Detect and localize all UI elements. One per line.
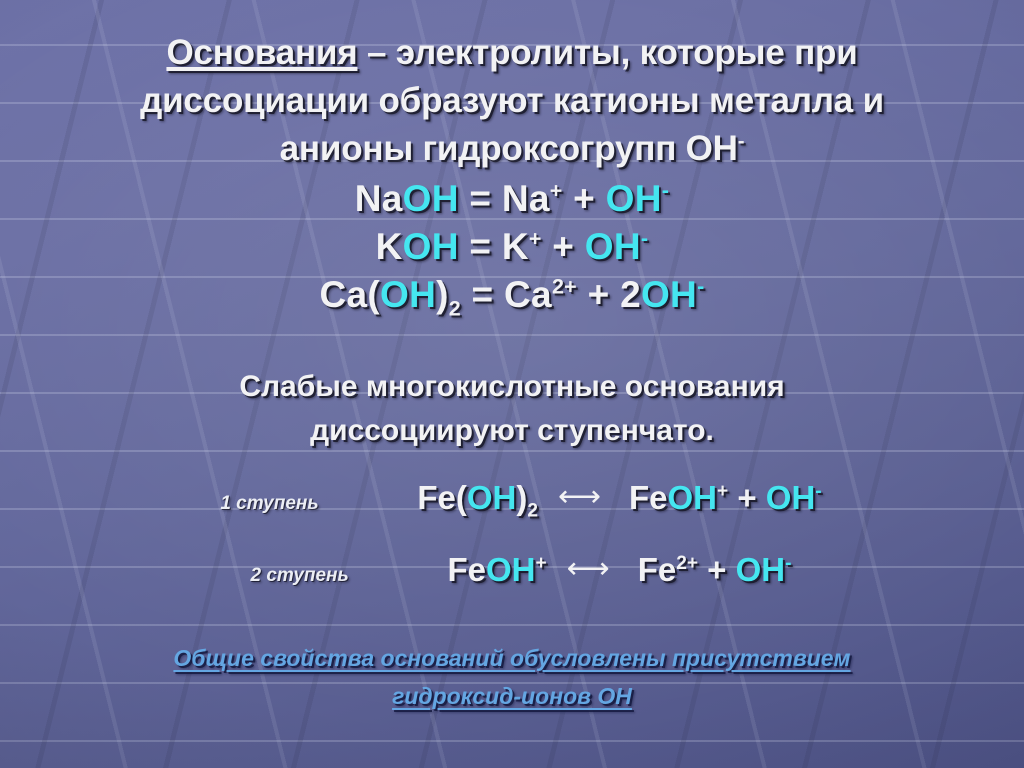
statement-line-2: диссоциируют ступенчато. bbox=[0, 414, 1024, 448]
dissociation-step-2: 2 ступень FeOH+ ⟷ Fe2+ + OH- bbox=[0, 551, 1024, 589]
title-line-2-text: диссоциации образуют катионы металла и bbox=[140, 81, 884, 120]
equation-naoh-text: NaOH = Na+ + OH- bbox=[355, 178, 669, 219]
footer-line-1: Общие свойства оснований обусловлены при… bbox=[0, 645, 1024, 672]
presentation-slide: Основания – электролиты, которые при дис… bbox=[0, 0, 1024, 768]
footer-line-2-text: гидроксид-ионов ОН bbox=[392, 683, 632, 709]
title-line-3-prefix: анионы гидроксогрупп ОН bbox=[280, 129, 738, 168]
statement-line-1-text: Слабые многокислотные основания bbox=[239, 370, 784, 403]
equation-caoh2-text: Ca(OH)2 = Ca2+ + 2OH- bbox=[319, 274, 704, 315]
dissociation-step-1: 1 ступень Fe(OH)2 ⟷ FeOH+ + OH- bbox=[0, 479, 1024, 517]
title-keyword: Основания bbox=[166, 33, 357, 72]
title-line-3: анионы гидроксогрупп ОН- bbox=[0, 129, 1024, 169]
title-line-3-charge: - bbox=[738, 130, 745, 152]
step-2-reactant: FeOH+ bbox=[447, 551, 546, 589]
title-line-2: диссоциации образуют катионы металла и bbox=[0, 81, 1024, 121]
equation-koh: KOH = K+ + OH- bbox=[0, 226, 1024, 268]
step-1-reactant: Fe(OH)2 bbox=[417, 479, 538, 517]
equation-koh-text: KOH = K+ + OH- bbox=[376, 226, 649, 267]
step-1-products: FeOH+ + OH- bbox=[629, 479, 822, 517]
slide-content: Основания – электролиты, которые при дис… bbox=[0, 0, 1024, 768]
step-2-products: Fe2+ + OH- bbox=[638, 551, 792, 589]
title-line-1-rest: – электролиты, которые при bbox=[357, 33, 857, 72]
title-line-1: Основания – электролиты, которые при bbox=[0, 33, 1024, 73]
equation-caoh2: Ca(OH)2 = Ca2+ + 2OH- bbox=[0, 274, 1024, 316]
equation-naoh: NaOH = Na+ + OH- bbox=[0, 178, 1024, 220]
reversible-arrow-icon: ⟷ bbox=[561, 551, 616, 586]
step-1-label: 1 ступень bbox=[202, 493, 417, 515]
statement-line-1: Слабые многокислотные основания bbox=[0, 370, 1024, 404]
statement-line-2-text: диссоциируют ступенчато. bbox=[310, 414, 714, 447]
reversible-arrow-icon: ⟷ bbox=[552, 479, 607, 514]
footer-line-1-text: Общие свойства оснований обусловлены при… bbox=[173, 645, 850, 671]
step-2-label: 2 ступень bbox=[232, 565, 447, 587]
title-line-3-text: анионы гидроксогрупп ОН- bbox=[280, 129, 745, 168]
footer-line-2: гидроксид-ионов ОН bbox=[0, 683, 1024, 710]
